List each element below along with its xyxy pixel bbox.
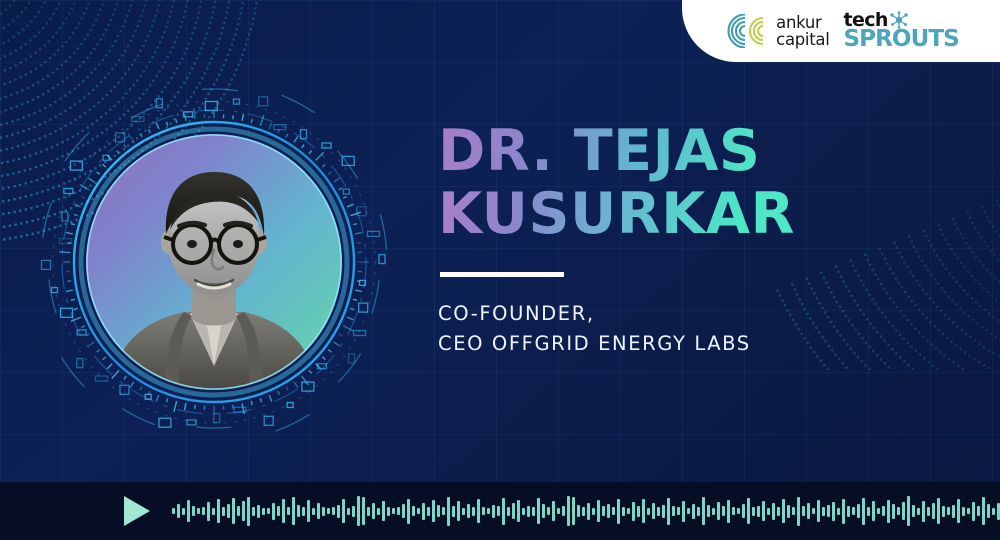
waveform-bar: [947, 507, 950, 515]
waveform-bar: [757, 506, 760, 517]
waveform-bar: [992, 508, 995, 515]
waveform-bar: [917, 508, 920, 515]
waveform-bar: [372, 503, 375, 519]
audio-player-bar: [0, 482, 1000, 540]
waveform-bar: [637, 506, 640, 517]
waveform-bar: [502, 498, 505, 525]
waveform-bar: [442, 507, 445, 515]
sprouts-wordmark: SPROUTS: [843, 28, 958, 51]
waveform-bar: [677, 507, 680, 515]
waveform-bar: [752, 507, 755, 516]
waveform-bar: [837, 508, 840, 515]
waveform-bar: [207, 502, 210, 521]
waveform-bar: [982, 497, 985, 525]
waveform-bar: [507, 507, 510, 516]
presentation-slide: ankur capital tech: [0, 0, 1000, 540]
portrait-tech-ring-icon: [40, 88, 388, 436]
tech-sprouts-logo: tech: [843, 11, 958, 51]
waveform-bar: [312, 508, 315, 515]
waveform-bar: [252, 507, 255, 516]
waveform-bar: [862, 498, 865, 525]
waveform-bar: [897, 507, 900, 515]
waveform-bar: [582, 507, 585, 516]
title-divider: [440, 272, 564, 277]
waveform-bar: [962, 507, 965, 516]
waveform-bar: [542, 504, 545, 518]
waveform-bar: [352, 506, 355, 517]
waveform-bar: [972, 502, 975, 521]
waveform-bar: [652, 503, 655, 519]
waveform-bar: [902, 502, 905, 520]
waveform-bar: [907, 496, 910, 526]
waveform-bar: [732, 507, 735, 515]
waveform-bar: [277, 506, 280, 516]
waveform-bar: [647, 508, 650, 515]
waveform-bar: [397, 507, 400, 515]
waveform-bar: [377, 508, 380, 515]
waveform-bar: [642, 499, 645, 523]
waveform-bar: [632, 502, 635, 521]
waveform-bar: [927, 507, 930, 516]
waveform-bar: [552, 501, 555, 521]
waveform-bar: [447, 497, 450, 526]
waveform-bar: [877, 508, 880, 514]
waveform-bar: [697, 507, 700, 516]
waveform-bar: [462, 508, 465, 515]
waveform-bar: [222, 507, 225, 516]
waveform-bar: [607, 504, 610, 518]
waveform-bar: [682, 501, 685, 522]
waveform-bar: [182, 508, 185, 515]
waveform-bar: [812, 508, 815, 514]
waveform-bar: [617, 499, 620, 524]
waveform-bar: [892, 504, 895, 519]
waveform-bar: [387, 507, 390, 516]
waveform-bar: [912, 505, 915, 517]
waveform-bar: [772, 503, 775, 520]
waveform-bar: [477, 499, 480, 523]
waveform-bar: [342, 499, 345, 523]
ankur-wordmark-line1: ankur: [776, 14, 829, 31]
waveform-bar: [597, 500, 600, 522]
waveform-bar: [297, 505, 300, 517]
waveform-bar: [452, 506, 455, 517]
waveform-bar: [952, 505, 955, 518]
waveform-bar: [767, 508, 770, 515]
waveform-bar: [197, 508, 200, 514]
speaker-role-line2: CEO OFFGRID ENERGY LABS: [438, 329, 795, 359]
waveform-bar: [512, 503, 515, 519]
waveform-bar: [967, 508, 970, 514]
waveform-bar: [272, 503, 275, 520]
waveform-bar: [307, 500, 310, 522]
waveform-bar: [822, 507, 825, 516]
waveform-bar: [437, 505, 440, 517]
waveform-bar: [282, 499, 285, 523]
waveform-bar: [627, 508, 630, 514]
waveform-bar: [792, 507, 795, 515]
waveform-bar: [692, 504, 695, 519]
waveform-bar: [662, 505, 665, 518]
waveform-bar: [987, 504, 990, 518]
waveform-bar: [827, 505, 830, 517]
speaker-name-line2: KUSURKAR: [438, 183, 795, 246]
waveform-bar: [672, 506, 675, 516]
waveform-bar: [587, 503, 590, 520]
waveform-bar: [357, 496, 360, 526]
waveform-bar: [882, 506, 885, 516]
waveform-bar: [487, 508, 490, 514]
waveform-bar: [492, 505, 495, 518]
waveform-bar: [932, 503, 935, 519]
speaker-portrait: [40, 88, 388, 436]
waveform-bar: [787, 505, 790, 518]
waveform-bar: [267, 508, 270, 514]
waveform-bar: [497, 506, 500, 516]
waveform-bar: [317, 503, 320, 519]
waveform-bar: [467, 504, 470, 518]
waveform-bar: [532, 507, 535, 516]
waveform-bar: [337, 505, 340, 518]
waveform-bar: [212, 508, 215, 515]
waveform-bar: [832, 502, 835, 521]
waveform-bar: [482, 507, 485, 515]
waveform-bar: [242, 501, 245, 521]
waveform-bar: [332, 507, 335, 515]
speaker-name-line1: DR. TEJAS: [438, 120, 795, 183]
waveform-bar: [427, 507, 430, 516]
ankur-wordmark-line2: capital: [776, 31, 829, 48]
waveform-bar: [622, 507, 625, 516]
waveform-bar: [237, 506, 240, 516]
waveform-bar: [852, 507, 855, 515]
waveform-bar: [702, 497, 705, 525]
waveform-bar: [887, 500, 890, 523]
waveform-bar: [612, 507, 615, 515]
ankur-capital-logo: ankur capital: [723, 14, 829, 48]
waveform-bar: [287, 507, 290, 515]
waveform-bar: [517, 500, 520, 522]
waveform-bar: [302, 507, 305, 516]
waveform-bar: [572, 497, 575, 525]
waveform-bar: [657, 507, 660, 516]
waveform-bar: [742, 504, 745, 518]
waveform-bar: [262, 508, 265, 515]
waveform-bar: [392, 508, 395, 514]
waveform-bar: [247, 497, 250, 526]
waveform-bar: [777, 507, 780, 516]
waveform-bar: [232, 498, 235, 524]
waveform-bar: [602, 506, 605, 516]
waveform-bar: [712, 508, 715, 515]
waveform-bar: [417, 508, 420, 514]
waveform-bar: [192, 506, 195, 516]
waveform-bar: [727, 500, 730, 523]
waveform-bar: [667, 498, 670, 525]
play-button[interactable]: [124, 496, 150, 526]
waveform-bar: [217, 499, 220, 523]
waveform-bar: [187, 500, 190, 522]
waveform-bar: [177, 504, 180, 518]
waveform-bar: [367, 507, 370, 516]
waveform-bar: [412, 506, 415, 516]
waveform-bar: [957, 499, 960, 523]
waveform-bar: [592, 508, 595, 515]
waveform-bar: [687, 508, 690, 514]
waveform-bar: [857, 504, 860, 518]
waveform-bar: [872, 501, 875, 521]
waveform-bar: [292, 497, 295, 525]
waveform-bar: [522, 508, 525, 515]
waveform-bar: [422, 503, 425, 520]
waveform-bar: [802, 506, 805, 516]
brand-logo-panel: ankur capital tech: [682, 0, 1000, 62]
ankur-capital-concentric-c-mark-icon: [723, 14, 769, 48]
waveform-bar: [322, 507, 325, 516]
waveform-bar: [382, 501, 385, 521]
waveform-bar: [202, 507, 205, 515]
waveform-bar: [362, 497, 365, 525]
waveform-bar: [347, 508, 350, 515]
waveform-bar: [782, 499, 785, 523]
waveform-bar: [172, 508, 175, 514]
waveform-bar: [937, 498, 940, 524]
waveform-bar: [537, 498, 540, 524]
waveform-bar: [562, 506, 565, 516]
waveform-bar: [327, 508, 330, 514]
waveform-bar: [737, 508, 740, 514]
waveform-bar: [717, 502, 720, 520]
waveform-bar: [922, 501, 925, 522]
waveform-bar: [557, 508, 560, 514]
waveform-bar: [407, 499, 410, 524]
waveform-bar: [707, 505, 710, 517]
waveform-bar: [227, 504, 230, 518]
waveform-bar: [402, 504, 405, 518]
waveform-bar: [577, 505, 580, 517]
waveform-bar: [762, 501, 765, 521]
waveform-bar: [842, 499, 845, 524]
waveform-bar: [472, 507, 475, 516]
waveform-bar: [977, 506, 980, 516]
waveform-bar: [807, 503, 810, 519]
waveform-bar: [797, 497, 800, 526]
waveform-bar: [457, 501, 460, 521]
waveform-bar: [847, 506, 850, 517]
waveform-bar: [867, 507, 870, 516]
waveform-bar: [567, 496, 570, 526]
waveform-bar: [432, 500, 435, 522]
waveform-bar: [942, 506, 945, 517]
waveform-bar: [817, 500, 820, 522]
speaker-info: DR. TEJAS KUSURKAR CO-FOUNDER, CEO OFFGR…: [438, 120, 795, 359]
speaker-role-line1: CO-FOUNDER,: [438, 299, 795, 329]
waveform-bar: [527, 506, 530, 517]
waveform-bar: [747, 498, 750, 524]
waveform-bar: [547, 507, 550, 515]
waveform-bar: [257, 505, 260, 518]
waveform-bar: [722, 506, 725, 516]
audio-waveform[interactable]: [172, 494, 1000, 528]
